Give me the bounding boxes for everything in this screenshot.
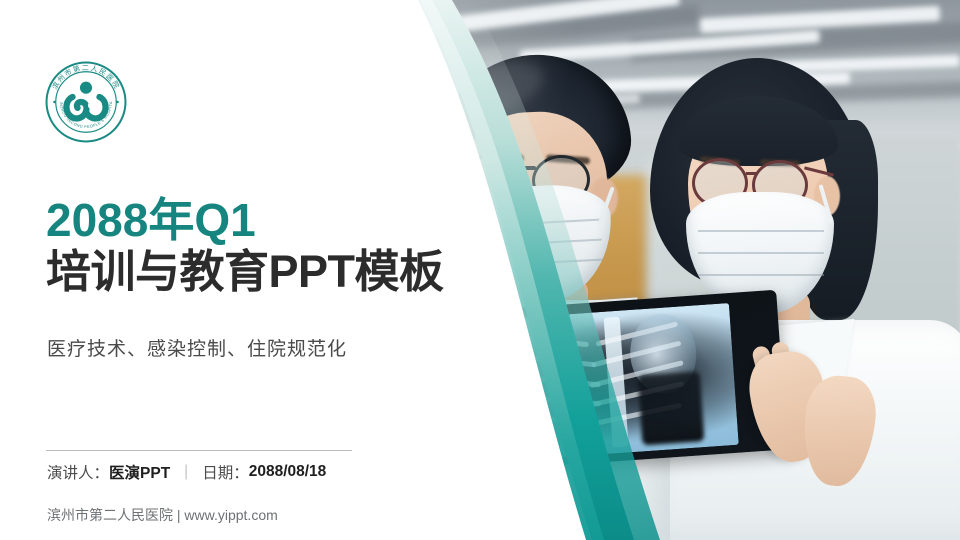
xray-image bbox=[491, 303, 738, 461]
presentation-cover-slide: 滨州市第二人民医院 BINZHOU SECOND PEOPLE'S HOSPIT… bbox=[0, 0, 960, 540]
footer-text: 滨州市第二人民医院 | www.yippt.com bbox=[47, 505, 278, 525]
mask-pleat bbox=[469, 219, 601, 227]
title-block: 2088年Q1 培训与教育PPT模板 bbox=[46, 196, 446, 297]
presenter-meta: 演讲人： 医演PPT | 日期： 2088/08/18 bbox=[47, 461, 326, 483]
chest-xray-film bbox=[477, 290, 787, 471]
xray-rib bbox=[513, 414, 599, 425]
xray-rib bbox=[507, 393, 601, 406]
female-doctor-eyeglass-bridge bbox=[746, 172, 756, 175]
mask-pleat bbox=[470, 239, 602, 247]
title-line-2: 培训与教育PPT模板 bbox=[46, 247, 446, 297]
xray-rib bbox=[505, 333, 589, 347]
hospital-doctors-photo bbox=[400, 0, 960, 540]
title-line-1: 2088年Q1 bbox=[46, 196, 446, 245]
subtitle: 医疗技术、感染控制、住院规范化 bbox=[47, 334, 347, 361]
xray-rib bbox=[504, 353, 596, 368]
date-label: 日期： bbox=[202, 461, 249, 483]
date-value: 2088/08/18 bbox=[249, 463, 327, 481]
presenter-label: 演讲人： bbox=[47, 461, 109, 483]
xray-dark-region bbox=[638, 371, 705, 445]
presenter-value: 医演PPT bbox=[109, 461, 170, 483]
mask-pleat bbox=[698, 252, 824, 254]
male-doctor-eyeglass-bridge bbox=[522, 166, 536, 170]
mask-pleat bbox=[698, 274, 824, 276]
meta-separator: | bbox=[184, 463, 188, 481]
mask-pleat bbox=[698, 230, 824, 232]
mask-pleat bbox=[471, 259, 603, 267]
meta-divider bbox=[46, 450, 352, 451]
hospital-logo: 滨州市第二人民医院 BINZHOU SECOND PEOPLE'S HOSPIT… bbox=[44, 60, 128, 144]
cover-content: 滨州市第二人民医院 BINZHOU SECOND PEOPLE'S HOSPIT… bbox=[0, 0, 440, 540]
xray-rib bbox=[505, 373, 601, 388]
